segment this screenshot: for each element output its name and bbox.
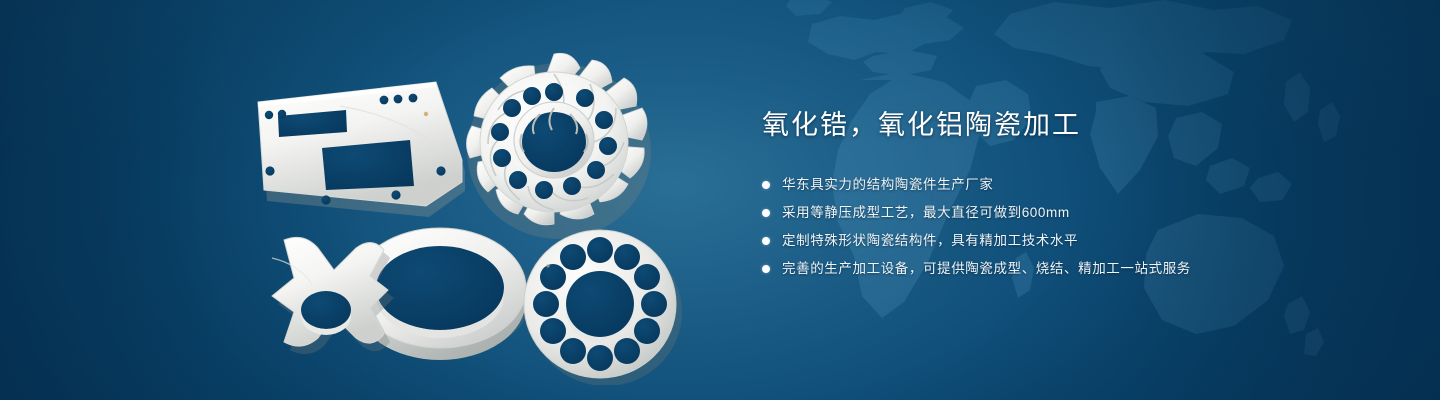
bullet-dot-icon — [762, 209, 770, 217]
list-item: 采用等静压成型工艺，最大直径可做到600mm — [762, 200, 1362, 225]
list-item: 完善的生产加工设备，可提供陶瓷成型、烧结、精加工一站式服务 — [762, 256, 1362, 281]
bullet-label: 定制特殊形状陶瓷结构件，具有精加工技术水平 — [782, 232, 1078, 250]
banner-copy: 氧化锆，氧化铝陶瓷加工 华东具实力的结构陶瓷件生产厂家 采用等静压成型工艺，最大… — [762, 108, 1362, 284]
ceramic-impeller-part — [466, 53, 651, 239]
promo-banner: 氧化锆，氧化铝陶瓷加工 华东具实力的结构陶瓷件生产厂家 采用等静压成型工艺，最大… — [0, 0, 1440, 400]
ceramic-retainer-disc-part — [524, 230, 682, 385]
bullet-label: 完善的生产加工设备，可提供陶瓷成型、烧结、精加工一站式服务 — [782, 260, 1191, 278]
list-item: 定制特殊形状陶瓷结构件，具有精加工技术水平 — [762, 228, 1362, 253]
ceramic-cross-part — [272, 237, 394, 354]
left-shade-overlay — [0, 0, 230, 400]
list-item: 华东具实力的结构陶瓷件生产厂家 — [762, 172, 1362, 197]
bullet-label: 华东具实力的结构陶瓷件生产厂家 — [782, 176, 994, 194]
page-title: 氧化锆，氧化铝陶瓷加工 — [762, 108, 1362, 142]
feature-bullet-list: 华东具实力的结构陶瓷件生产厂家 采用等静压成型工艺，最大直径可做到600mm 定… — [762, 172, 1362, 281]
ceramic-parts-photo-group — [230, 40, 730, 385]
bullet-label: 采用等静压成型工艺，最大直径可做到600mm — [782, 204, 1070, 222]
bullet-dot-icon — [762, 265, 770, 273]
bullet-dot-icon — [762, 181, 770, 189]
ceramic-plate-part — [258, 82, 465, 217]
bullet-dot-icon — [762, 237, 770, 245]
